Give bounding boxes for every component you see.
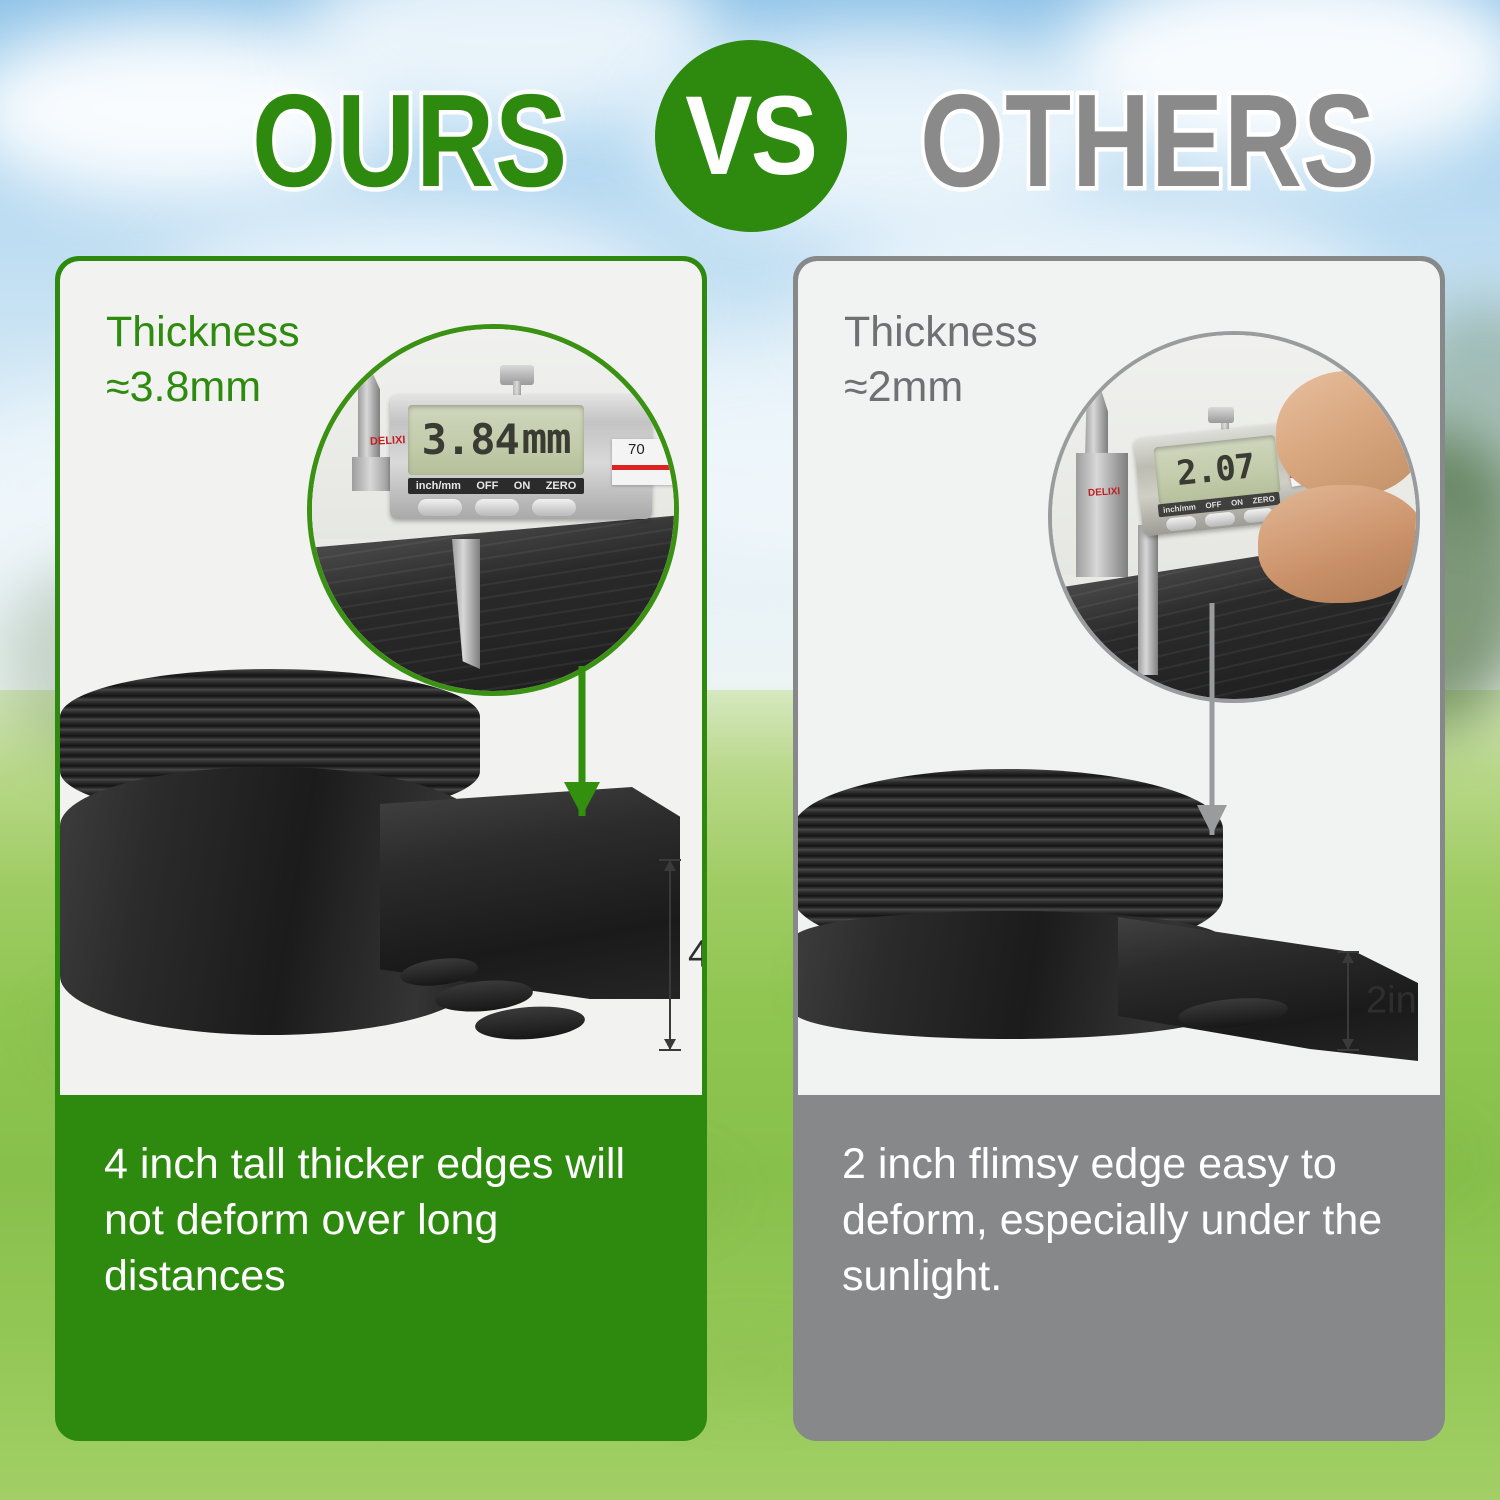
ours-panel: Thickness ≈3.8mm	[55, 256, 707, 1441]
dimension-arrow-up-icon	[1342, 952, 1354, 963]
dimension-arrow-down-icon	[664, 1039, 676, 1050]
others-callout-arrow	[1196, 603, 1228, 835]
tape-marking: 70	[628, 441, 645, 458]
ours-caliper-zoom-circle: 3.84 mm inch/mm OFF ON ZERO DELIXI	[307, 324, 679, 696]
caliper-reading: 2.07	[1175, 449, 1256, 491]
caliper-keys	[412, 499, 582, 516]
ours-photo-area: Thickness ≈3.8mm	[60, 261, 702, 1095]
caliper-btn-label-off: OFF	[476, 480, 498, 492]
comparison-header: OURS VS OTHERS	[0, 46, 1500, 236]
caliper-brand-text: DELIXI	[370, 434, 406, 448]
hand-holding-caliper	[1258, 485, 1420, 603]
edging-closeup-surface	[307, 514, 679, 696]
caliper-thumbwheel	[500, 365, 534, 385]
caliper-scene: 2.07 inch/mm OFF ON ZERO DELIXI	[1052, 335, 1416, 699]
caliper-reading: 3.84	[422, 419, 519, 461]
caliper-btn-label-zero: ZERO	[546, 480, 577, 492]
others-thickness-label: Thickness ≈2mm	[844, 305, 1038, 415]
others-caption: 2 inch flimsy edge easy to deform, espec…	[798, 1095, 1440, 1436]
header-ours-title: OURS	[252, 75, 568, 207]
hand-holding-caliper	[1276, 371, 1420, 497]
ours-dimension-4in: 4in	[658, 859, 682, 1051]
vs-badge: VS	[655, 40, 847, 232]
caliper-depth-rod	[1138, 525, 1158, 675]
caliper-unit: mm	[522, 418, 571, 460]
arrow-shaft	[1210, 603, 1215, 835]
caliper-jaw	[1076, 453, 1128, 577]
caliper-btn-label-off: OFF	[1205, 500, 1222, 511]
caliper-btn-label-zero: ZERO	[1252, 494, 1275, 505]
others-dimension-2in: 2in	[1336, 951, 1360, 1051]
caliper-btn-label-on: ON	[514, 480, 531, 492]
arrow-head-icon	[564, 782, 600, 816]
caliper-scene: 3.84 mm inch/mm OFF ON ZERO DELIXI	[312, 329, 674, 691]
caliper-btn-label-on: ON	[1231, 497, 1244, 507]
caliper-key[interactable]	[418, 499, 462, 516]
arrow-head-icon	[1197, 805, 1227, 835]
ours-caption: 4 inch tall thicker edges will not defor…	[60, 1095, 702, 1436]
infographic-canvas: OURS VS OTHERS Thickness ≈3.8mm	[0, 0, 1500, 1500]
dimension-arrow-down-icon	[1342, 1039, 1354, 1050]
caliper-key[interactable]	[475, 499, 519, 516]
others-dimension-label: 2in	[1366, 980, 1417, 1023]
caliper-thumbwheel	[1208, 407, 1234, 423]
tape-red-band	[612, 465, 679, 470]
dimension-line	[669, 859, 671, 1051]
vs-label: VS	[686, 80, 817, 192]
measuring-tape: 70	[612, 439, 679, 485]
ours-callout-arrow	[564, 666, 600, 816]
caliper-btn-label-inchmm: inch/mm	[416, 480, 461, 492]
others-caliper-zoom-circle: 2.07 inch/mm OFF ON ZERO DELIXI	[1048, 331, 1420, 703]
others-photo-area: Thickness ≈2mm	[798, 261, 1440, 1095]
others-panel: Thickness ≈2mm	[793, 256, 1445, 1441]
ours-thickness-label: Thickness ≈3.8mm	[106, 305, 300, 415]
others-edging-product	[798, 761, 1408, 1091]
dimension-arrow-up-icon	[664, 860, 676, 871]
header-others-title: OTHERS	[920, 75, 1376, 207]
caliper-btn-label-inchmm: inch/mm	[1163, 502, 1197, 514]
ours-dimension-label: 4in	[688, 934, 702, 977]
caliper-brand-text: DELIXI	[1088, 486, 1121, 499]
caliper-display: 3.84 mm	[408, 405, 584, 475]
caliper-key[interactable]	[532, 499, 576, 516]
dimension-line	[1347, 951, 1349, 1051]
caliper-button-labels: inch/mm OFF ON ZERO	[408, 478, 584, 494]
